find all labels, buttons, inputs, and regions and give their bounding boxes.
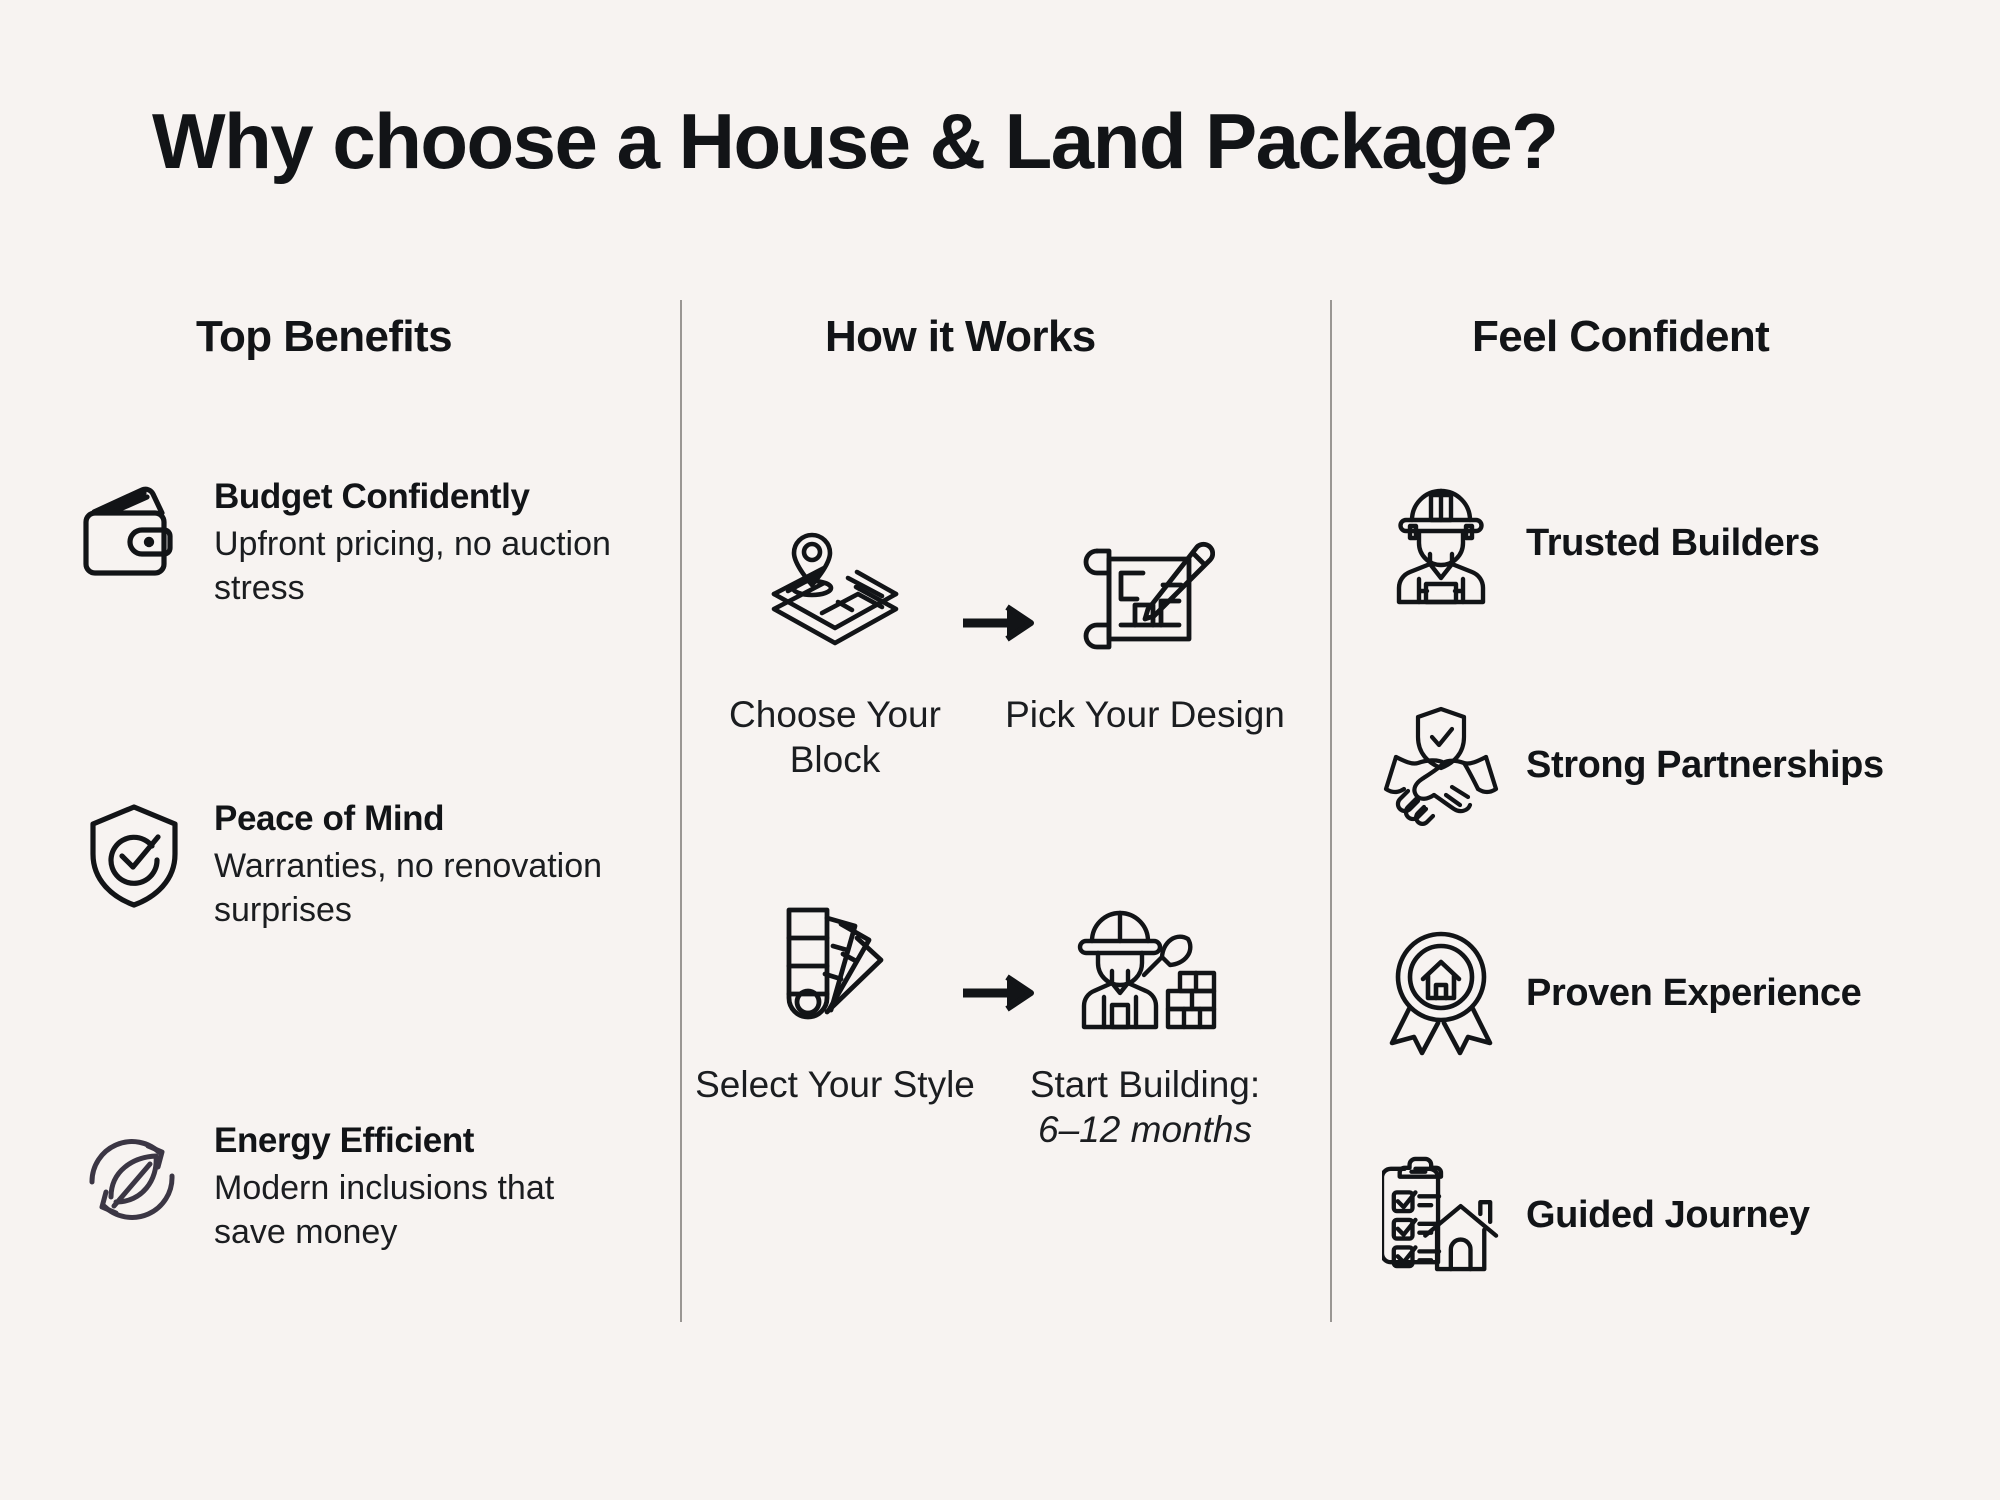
map-pin-layers-icon xyxy=(690,520,980,670)
benefit-description: Upfront pricing, no auction stress xyxy=(214,522,634,610)
column-heading-top-benefits: Top Benefits xyxy=(196,312,452,362)
process-step-label: Select Your Style xyxy=(690,1062,980,1107)
benefit-description: Warranties, no renovation surprises xyxy=(214,844,634,932)
award-house-icon xyxy=(1382,928,1500,1058)
process-step-label: Choose Your Block xyxy=(690,692,980,782)
process-step-duration: 6–12 months xyxy=(1000,1107,1290,1152)
confidence-label: Proven Experience xyxy=(1526,972,1861,1015)
process-step: Pick Your Design xyxy=(1000,520,1290,737)
process-step: Select Your Style xyxy=(690,890,980,1107)
clipboard-house-icon xyxy=(1382,1150,1500,1280)
confidence-label: Strong Partnerships xyxy=(1526,744,1884,787)
benefit-title: Energy Efficient xyxy=(214,1120,634,1161)
column-divider-1 xyxy=(680,300,682,1322)
construction-worker-icon xyxy=(1382,478,1500,608)
column-heading-feel-confident: Feel Confident xyxy=(1472,312,1769,362)
benefit-description: Modern inclusions that save money xyxy=(214,1166,634,1254)
color-swatch-fan-icon xyxy=(690,890,980,1040)
process-step-label: Start Building: xyxy=(1000,1062,1290,1107)
arrow-right-icon xyxy=(958,970,1040,1016)
benefit-title: Budget Confidently xyxy=(214,476,634,517)
handshake-shield-icon xyxy=(1382,700,1500,830)
arrow-right-icon xyxy=(958,600,1040,646)
confidence-item: Strong Partnerships xyxy=(1382,700,1982,830)
builder-bricks-icon xyxy=(1000,890,1290,1040)
page-title: Why choose a House & Land Package? xyxy=(152,96,1557,187)
blueprint-pencil-icon xyxy=(1000,520,1290,670)
recycle-leaf-icon xyxy=(78,1122,190,1234)
confidence-label: Guided Journey xyxy=(1526,1194,1810,1237)
confidence-item: Guided Journey xyxy=(1382,1150,1982,1280)
infographic-canvas: Why choose a House & Land Package? Top B… xyxy=(0,0,2000,1500)
confidence-item: Trusted Builders xyxy=(1382,478,1982,608)
benefit-item: Peace of Mind Warranties, no renovation … xyxy=(78,794,678,933)
column-heading-how-it-works: How it Works xyxy=(825,312,1096,362)
shield-check-icon xyxy=(78,800,190,912)
benefit-item: Budget Confidently Upfront pricing, no a… xyxy=(78,472,678,611)
column-divider-2 xyxy=(1330,300,1332,1322)
process-step: Choose Your Block xyxy=(690,520,980,782)
benefit-item: Energy Efficient Modern inclusions that … xyxy=(78,1116,678,1255)
confidence-item: Proven Experience xyxy=(1382,928,1982,1058)
confidence-label: Trusted Builders xyxy=(1526,522,1819,565)
benefit-title: Peace of Mind xyxy=(214,798,634,839)
wallet-icon xyxy=(78,478,190,590)
process-step: Start Building: 6–12 months xyxy=(1000,890,1290,1152)
process-step-label: Pick Your Design xyxy=(1000,692,1290,737)
